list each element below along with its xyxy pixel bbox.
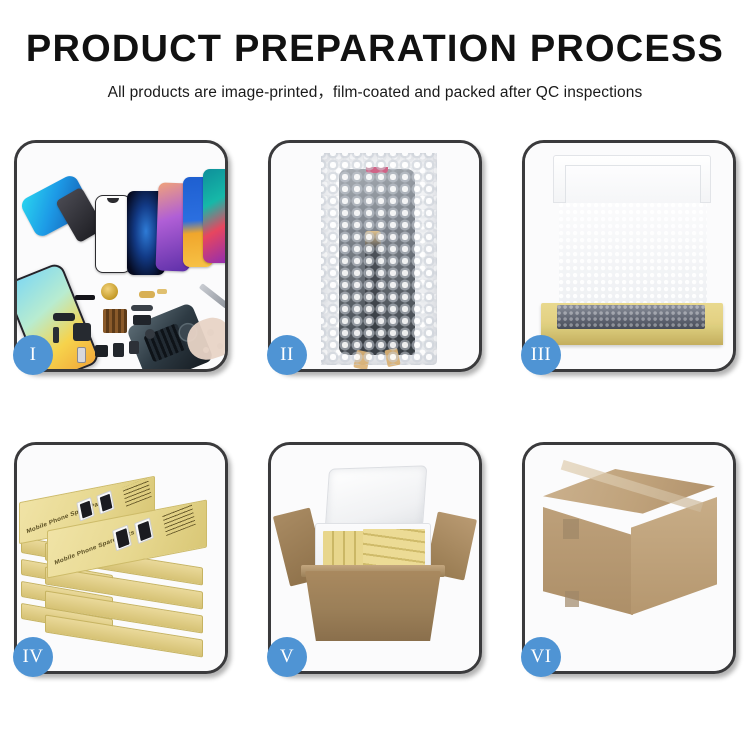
step-3-image [525, 143, 733, 369]
button-part-icon [129, 341, 139, 354]
foam-cooler-lid-icon [325, 465, 428, 530]
box-lid-thumbnail [112, 525, 132, 552]
bubble-wrapped-item-icon [557, 305, 705, 329]
teal-gradient-phone-icon [203, 169, 225, 263]
step-badge-6: VI [521, 637, 561, 677]
bracket-part-icon [53, 313, 75, 321]
bubble-wrap-scene [271, 143, 479, 369]
step-5-image [271, 445, 479, 671]
carton-front-icon [305, 571, 441, 641]
step-1-image [17, 143, 225, 369]
step-badge-1: I [13, 335, 53, 375]
tweezers-icon [199, 283, 225, 309]
bubble-texture-overlay [321, 153, 437, 365]
step-badge-2: II [267, 335, 307, 375]
gold-flex-part-icon [139, 291, 155, 298]
speaker-coil-part-icon [101, 283, 118, 300]
chip-grid-part-icon [103, 309, 127, 333]
box-lid-thumbnail [96, 490, 115, 515]
small-gold-part-icon [157, 289, 167, 294]
vibrator-part-icon [113, 343, 124, 357]
process-step-grid: I II [14, 140, 736, 674]
pin-part-icon [53, 327, 59, 343]
process-step-panel-1[interactable]: I [14, 140, 228, 372]
carton-front-face-icon [543, 507, 633, 615]
carton-side-face-icon [631, 497, 717, 615]
step-6-image [525, 445, 733, 671]
lens-part-icon [145, 329, 155, 339]
product-preparation-infographic: PRODUCT PREPARATION PROCESS All products… [0, 0, 750, 750]
page-title: PRODUCT PREPARATION PROCESS [0, 30, 750, 70]
foam-box-scene [525, 143, 733, 369]
bubble-wrap-bag-icon [321, 153, 437, 365]
carton-packing-scene [271, 445, 479, 671]
process-step-panel-3[interactable]: III [522, 140, 736, 372]
step-4-image: Mobile Phone Spare Parts Mobile Phone Sp… [17, 445, 225, 671]
phone-parts-scene [17, 143, 225, 369]
flex-connector-part-icon [75, 295, 95, 300]
tape-corner-icon [565, 591, 579, 607]
process-step-panel-4[interactable]: Mobile Phone Spare Parts Mobile Phone Sp… [14, 442, 228, 674]
tape-corner-icon [563, 519, 579, 539]
white-screen-panel-icon [95, 195, 131, 273]
camera-module-part-icon [95, 345, 108, 357]
step-badge-5: V [267, 637, 307, 677]
sim-tray-part-icon [77, 347, 86, 363]
module-part-icon [73, 323, 91, 341]
header: PRODUCT PREPARATION PROCESS All products… [0, 30, 750, 102]
process-step-panel-5[interactable]: V [268, 442, 482, 674]
ribbon-cable-part-icon [131, 305, 153, 311]
box-lid-spec-lines [162, 504, 196, 536]
process-step-panel-6[interactable]: VI [522, 442, 736, 674]
box-lid-thumbnail [76, 497, 95, 522]
sealed-carton-scene [525, 445, 733, 671]
box-lid-spec-lines [122, 478, 151, 507]
step-2-image [271, 143, 479, 369]
connector-block-part-icon [133, 315, 151, 325]
step-badge-3: III [521, 335, 561, 375]
foam-sheet-icon [559, 203, 707, 307]
step-badge-4: IV [13, 637, 53, 677]
page-subtitle: All products are image-printed，film-coat… [0, 80, 750, 102]
box-lid-thumbnail [134, 517, 154, 544]
box-stack-scene: Mobile Phone Spare Parts Mobile Phone Sp… [17, 459, 225, 669]
process-step-panel-2[interactable]: II [268, 140, 482, 372]
